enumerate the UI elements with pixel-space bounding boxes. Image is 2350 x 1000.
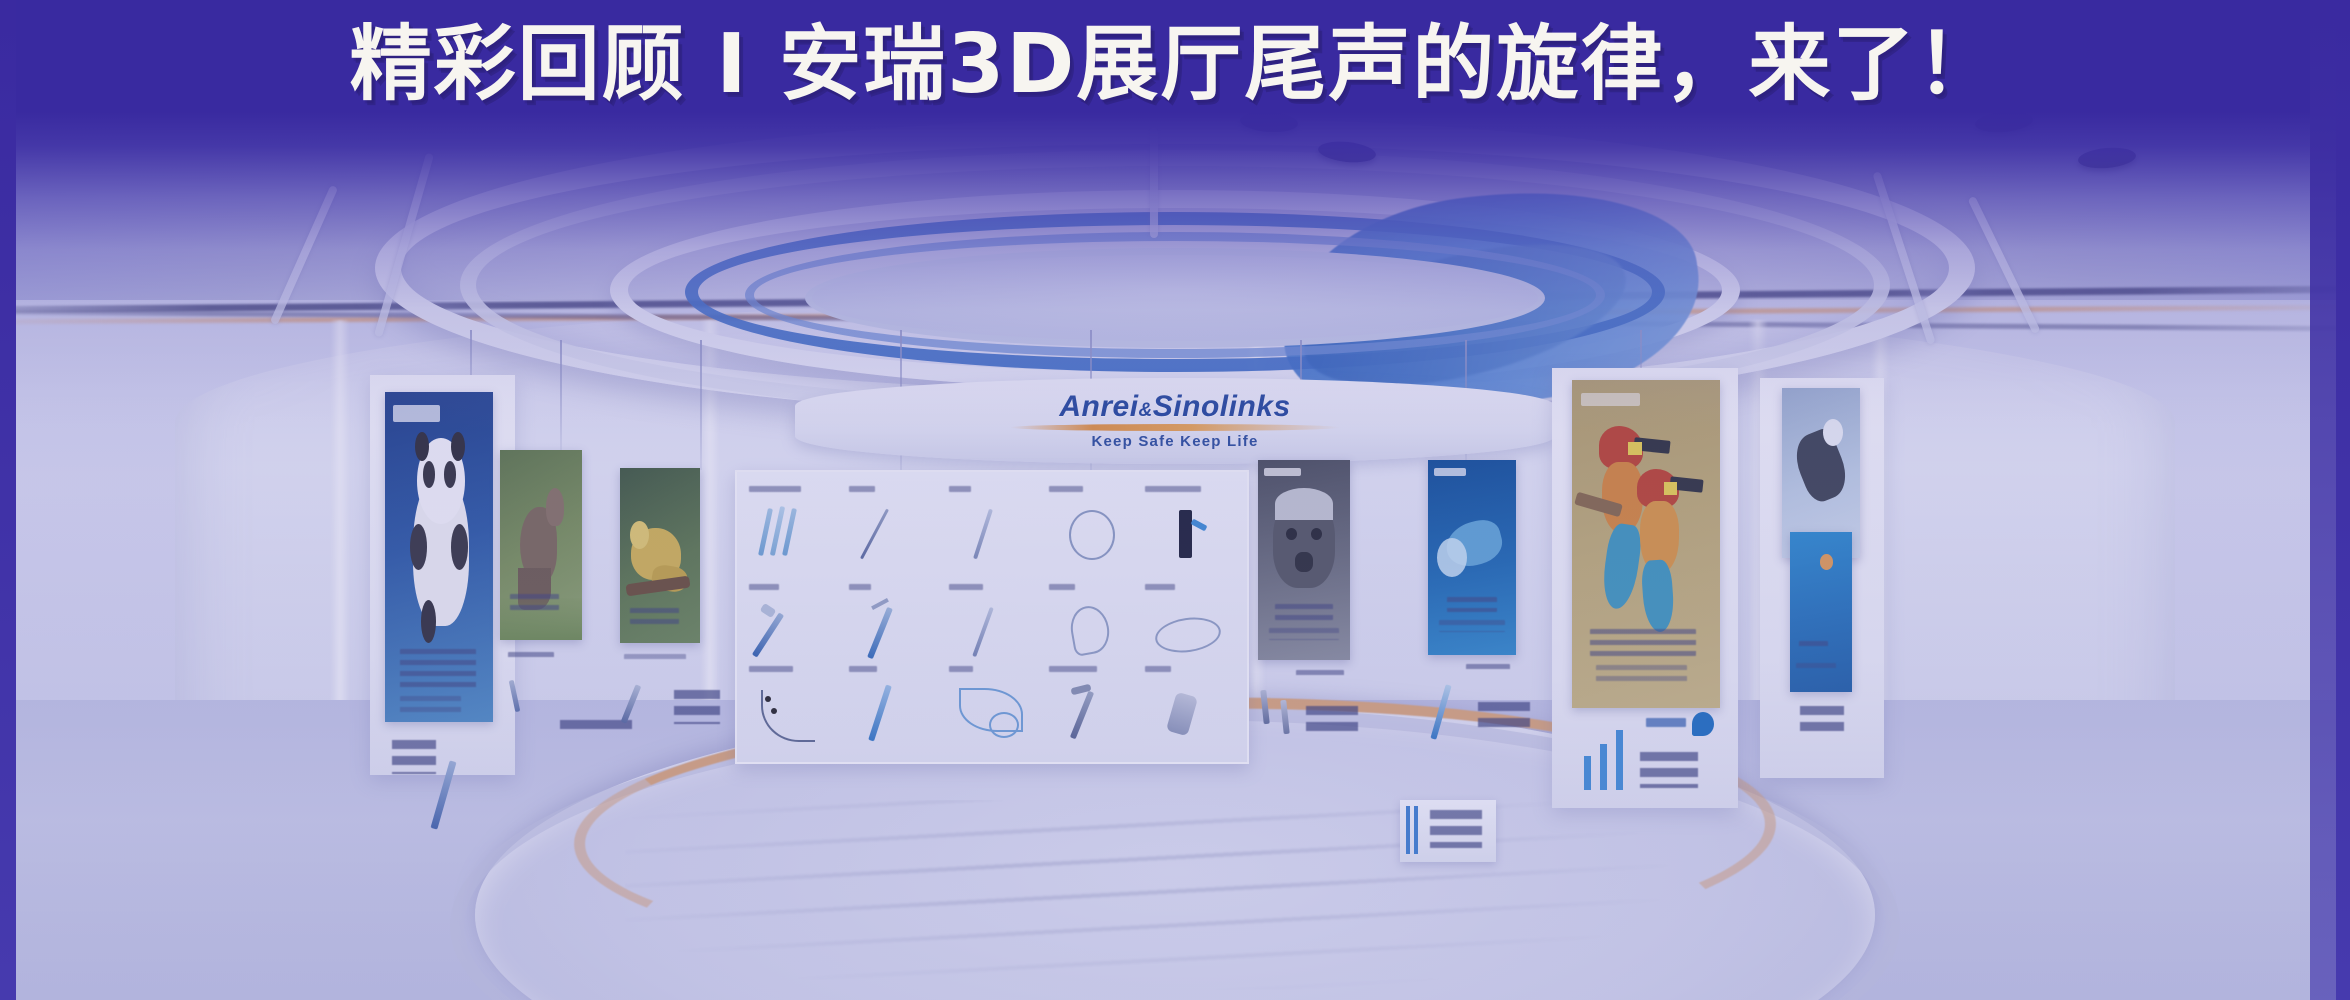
- panel-caption-dolphin: [1478, 702, 1530, 734]
- water-splash: [1437, 538, 1467, 577]
- panda-leg-left: [421, 600, 436, 643]
- exhibition-banner: Anrei&Sinolinks Keep Safe Keep Life: [0, 0, 2350, 1000]
- product-label-blur: [949, 486, 971, 492]
- poster-logo-mark: [1264, 468, 1301, 476]
- product-cell: [847, 584, 939, 670]
- product-label-blur: [1049, 666, 1097, 672]
- product-cell: [947, 666, 1039, 752]
- brand-swoosh-accent: [1010, 424, 1340, 431]
- mini-bar-2: [1600, 744, 1607, 790]
- poster-subtext-blur: [1596, 665, 1688, 681]
- product-label-blur: [849, 666, 877, 672]
- product-icon: [1151, 682, 1223, 742]
- brand-logo-banner: Anrei&Sinolinks Keep Safe Keep Life: [795, 378, 1555, 464]
- poster-subtext-blur: [400, 696, 460, 716]
- panel-caption-frog: [674, 690, 720, 724]
- product-icon: [1055, 682, 1127, 742]
- brand-logo-secondary: Sinolinks: [1153, 390, 1291, 423]
- mini-bar-3: [1616, 730, 1623, 790]
- bird-2-throat: [1664, 482, 1677, 495]
- product-label-blur: [1049, 584, 1075, 590]
- poster-headline-blur: [1799, 641, 1829, 652]
- poster-headline-blur: [510, 594, 559, 609]
- product-cell: [1143, 486, 1235, 572]
- ocean-sun: [1820, 554, 1834, 570]
- poster-panda: [385, 392, 493, 722]
- poster-logo-mark: [393, 405, 441, 422]
- product-icon: [755, 682, 827, 742]
- product-label-blur: [949, 584, 983, 590]
- product-icon: [955, 682, 1027, 742]
- ceiling-spoke: [1150, 128, 1158, 238]
- product-cell: [747, 486, 839, 572]
- poster-headline-blur: [1275, 604, 1334, 620]
- brand-logo-amp: &: [1139, 400, 1153, 421]
- product-cell: [747, 584, 839, 670]
- right-edge-band-wide: [2310, 0, 2336, 1000]
- brand-tagline: Keep Safe Keep Life: [1091, 433, 1258, 450]
- bird-1-tail: [1599, 522, 1643, 611]
- poster-logo-mark: [1434, 468, 1466, 476]
- eagle-head: [1823, 419, 1843, 446]
- product-cell: [1047, 666, 1139, 752]
- product-cell: [947, 584, 1039, 670]
- poster-caption-frog: [624, 654, 686, 662]
- poster-subtext-blur: [1439, 620, 1506, 632]
- hanging-wire: [560, 340, 562, 450]
- product-label-blur: [1145, 666, 1171, 672]
- product-label-blur: [749, 486, 801, 492]
- right-edge-band: [2336, 0, 2350, 1000]
- panel-caption-far-right: [1800, 706, 1844, 732]
- bird-2-tail: [1641, 559, 1676, 633]
- poster-kangaroo: [500, 450, 582, 640]
- poster-ocean: [1790, 532, 1852, 692]
- product-icon: [755, 600, 827, 660]
- poster-caption-badger: [1296, 670, 1344, 678]
- product-label-blur: [1145, 584, 1175, 590]
- poster-logo-mark: [1581, 393, 1640, 406]
- badger-eye-left: [1286, 528, 1297, 540]
- product-icon: [855, 502, 927, 562]
- sign-text: [1430, 810, 1482, 848]
- panel-caption-badger: [1306, 706, 1358, 738]
- poster-caption-kangaroo: [508, 652, 554, 662]
- poster-headline-blur: [1447, 597, 1496, 613]
- poster-dolphin: [1428, 460, 1516, 655]
- mini-bar-1: [1584, 756, 1591, 790]
- poster-caption-bird: [1646, 718, 1686, 727]
- product-cell: [1047, 486, 1139, 572]
- product-cell: [847, 666, 939, 752]
- product-cell: [1143, 666, 1235, 752]
- bird-1-throat: [1628, 442, 1641, 455]
- panel-caption-bird: [1640, 752, 1698, 788]
- panda-arm-left: [410, 524, 427, 570]
- panel-caption-left: [392, 740, 436, 774]
- product-cell: [947, 486, 1039, 572]
- poster-headline-blur: [1590, 629, 1697, 655]
- hanging-wire: [700, 340, 702, 470]
- product-icon: [855, 682, 927, 742]
- poster-honey-badger: [1258, 460, 1350, 660]
- poster-caption-dolphin: [1466, 664, 1510, 672]
- sign-bar-1: [1406, 806, 1410, 854]
- product-icon: [955, 600, 1027, 660]
- poster-bee-eater: [1572, 380, 1720, 708]
- panda-eye-left: [423, 461, 435, 487]
- brand-logo-primary: Anrei: [1059, 390, 1138, 423]
- frog-head: [630, 521, 649, 549]
- product-icon: [1055, 502, 1127, 562]
- product-label-blur: [1145, 486, 1201, 492]
- product-icon: [855, 600, 927, 660]
- product-label-blur: [1049, 486, 1083, 492]
- eagle-body: [1788, 426, 1854, 505]
- product-label-blur: [749, 666, 793, 672]
- poster-headline-blur: [400, 649, 476, 692]
- exhibition-hall-3d-scene: Anrei&Sinolinks Keep Safe Keep Life: [0, 0, 2350, 1000]
- page-title: 精彩回顾 I 安瑞3D展厅尾声的旋律，来了！: [0, 22, 2350, 108]
- product-icon: [955, 502, 1027, 562]
- left-edge-band: [0, 0, 16, 1000]
- sign-bar-2: [1414, 806, 1418, 854]
- product-cell: [747, 666, 839, 752]
- kangaroo-head: [546, 488, 564, 526]
- poster-subtext-blur: [1269, 628, 1339, 640]
- product-label-blur: [849, 584, 871, 590]
- stage-sign: [1400, 800, 1496, 862]
- product-icon: [755, 502, 827, 562]
- product-icon: [1151, 502, 1223, 562]
- brand-logo-text: Anrei&Sinolinks: [1059, 392, 1290, 422]
- badger-snout: [1295, 552, 1313, 572]
- panda-ear-right: [451, 432, 465, 462]
- product-icon: [1151, 600, 1223, 660]
- badger-crown: [1275, 488, 1334, 520]
- poster-subtext-blur: [1796, 663, 1836, 671]
- panel-caption-kangaroo: [560, 720, 632, 736]
- product-label-blur: [949, 666, 973, 672]
- frog-branch: [626, 576, 691, 597]
- product-catalog-board: [735, 470, 1249, 764]
- product-cell: [847, 486, 939, 572]
- brand-i-mark: [1692, 712, 1714, 736]
- product-cell: [1047, 584, 1139, 670]
- product-cell: [1143, 584, 1235, 670]
- poster-frog: [620, 468, 700, 643]
- product-label-blur: [749, 584, 779, 590]
- poster-headline-blur: [630, 608, 680, 624]
- ceiling-ring-inner: [805, 248, 1545, 348]
- product-icon: [1055, 600, 1127, 660]
- product-label-blur: [849, 486, 875, 492]
